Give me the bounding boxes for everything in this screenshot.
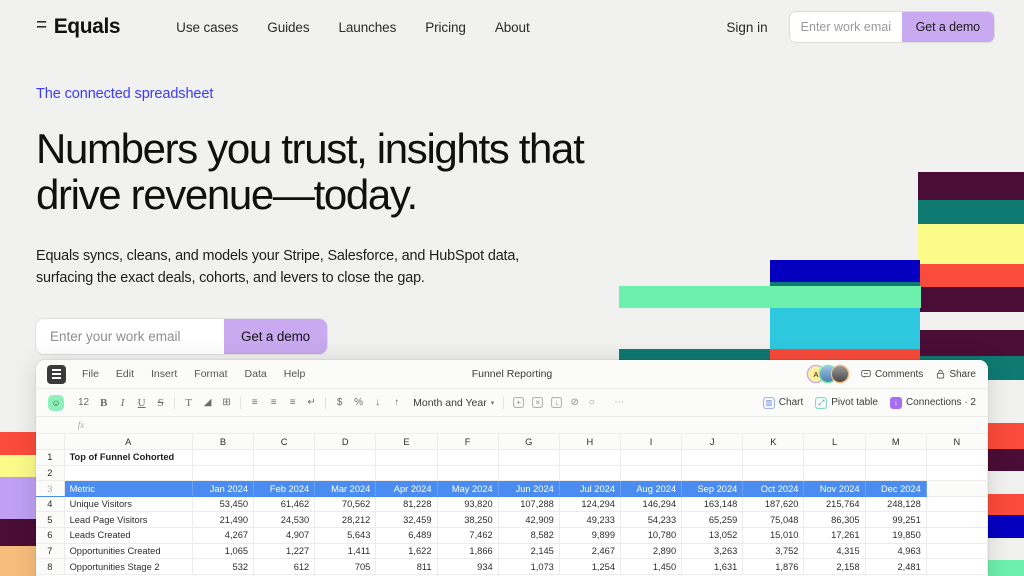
cell[interactable] — [559, 450, 620, 466]
cell[interactable] — [743, 450, 804, 466]
cell-value[interactable]: 1,866 — [437, 543, 498, 559]
nav-get-demo-button[interactable]: Get a demo — [902, 12, 994, 42]
column-header-j[interactable]: J — [682, 434, 743, 450]
cell-value[interactable]: 1,622 — [376, 543, 437, 559]
hero-subheadline: Equals syncs, cleans, and models your St… — [36, 246, 556, 290]
share-label: Share — [949, 369, 976, 380]
insert-sheet-icon[interactable]: ↓ — [551, 397, 562, 408]
avatar[interactable] — [832, 366, 848, 382]
hero-section: The connected spreadsheet Numbers you tr… — [36, 86, 676, 354]
band-left-yellow — [0, 455, 38, 477]
cell-value[interactable]: 2,481 — [865, 559, 926, 575]
italic-button[interactable]: I — [118, 397, 127, 409]
borders-icon[interactable]: ⊞ — [222, 397, 231, 408]
nav-link-guides[interactable]: Guides — [267, 20, 309, 35]
band-right-plum-1 — [918, 172, 1024, 200]
menu-item-file[interactable]: File — [82, 368, 99, 380]
cell-value[interactable]: 10,780 — [620, 528, 681, 544]
cell[interactable] — [804, 465, 865, 481]
header-month[interactable]: Jun 2024 — [498, 481, 559, 497]
more-options-icon[interactable]: ⋯ — [614, 397, 624, 408]
wrap-text-icon[interactable]: ↵ — [307, 397, 316, 408]
cell-value[interactable]: 1,876 — [743, 559, 804, 575]
header-month[interactable]: Jan 2024 — [192, 481, 253, 497]
corner-cell[interactable] — [36, 434, 64, 450]
nav-email-input[interactable] — [790, 12, 902, 42]
column-header-n[interactable]: N — [926, 434, 987, 450]
cell-metric-name[interactable]: Opportunities Created — [64, 543, 192, 559]
brand-name: Equals — [54, 15, 120, 39]
header-metric[interactable]: Metric — [64, 481, 192, 497]
band-far-red-1 — [988, 423, 1024, 449]
sheet-body: 1 Top of Funnel Cohorted 2 — [36, 450, 988, 575]
cell-value[interactable]: 21,490 — [192, 512, 253, 528]
cell-value[interactable]: 6,489 — [376, 528, 437, 544]
band-far-navy — [988, 515, 1024, 538]
app-menubar: File Edit Insert Format Data Help Funnel… — [36, 360, 988, 389]
table-header-row[interactable]: 3 Metric Jan 2024 Feb 2024 Mar 2024 Apr … — [36, 481, 988, 497]
cell-value[interactable]: 4,907 — [254, 528, 315, 544]
cell-value[interactable]: 705 — [315, 559, 376, 575]
cell-value[interactable]: 3,263 — [682, 543, 743, 559]
cell-value[interactable]: 32,459 — [376, 512, 437, 528]
spreadsheet-app-window: File Edit Insert Format Data Help Funnel… — [36, 360, 988, 576]
header-month[interactable]: Oct 2024 — [743, 481, 804, 497]
table-row[interactable]: 7Opportunities Created1,0651,2271,4111,6… — [36, 543, 988, 559]
comment-icon — [861, 369, 871, 379]
cell[interactable] — [804, 450, 865, 466]
cell[interactable] — [315, 465, 376, 481]
band-mid-cyan — [770, 307, 920, 357]
cell-value[interactable]: 42,909 — [498, 512, 559, 528]
cell-value[interactable]: 24,530 — [254, 512, 315, 528]
header-month[interactable]: Feb 2024 — [254, 481, 315, 497]
cell-value[interactable]: 1,254 — [559, 559, 620, 575]
menu-hamburger-icon[interactable] — [47, 365, 66, 384]
table-row[interactable]: 4Unique Visitors53,45061,46270,56281,228… — [36, 496, 988, 512]
column-header-d[interactable]: D — [315, 434, 376, 450]
row-number[interactable]: 6 — [36, 528, 64, 544]
cell[interactable] — [926, 450, 987, 466]
menubar-right: A Comments Sh — [808, 366, 976, 382]
menu-item-format[interactable]: Format — [194, 368, 227, 380]
cell[interactable] — [865, 450, 926, 466]
cell[interactable] — [682, 465, 743, 481]
cell[interactable] — [620, 450, 681, 466]
app-toolbar: ☺ 12 B I U S T ◢ ⊞ ≡ ≡ ≡ ↵ — [36, 389, 988, 417]
column-header-row: A B C D E F G H I J K L M N — [36, 434, 988, 450]
nav-links: Use cases Guides Launches Pricing About — [176, 20, 529, 35]
toolbar-divider — [325, 397, 326, 409]
table-row[interactable]: 5Lead Page Visitors21,49024,53028,21232,… — [36, 512, 988, 528]
cell-value[interactable]: 13,052 — [682, 528, 743, 544]
cell-value[interactable]: 86,305 — [804, 512, 865, 528]
cell[interactable] — [743, 465, 804, 481]
cell-value[interactable]: 4,267 — [192, 528, 253, 544]
cell[interactable] — [926, 559, 987, 575]
cell-value[interactable]: 9,899 — [559, 528, 620, 544]
band-far-mint — [988, 560, 1024, 576]
hero-eyebrow: The connected spreadsheet — [36, 86, 676, 102]
toolbar-divider — [174, 397, 175, 409]
pivot-table-button[interactable]: ⤢ Pivot table — [815, 397, 878, 409]
cell-value[interactable]: 163,148 — [682, 496, 743, 512]
band-far-red-2 — [988, 494, 1024, 515]
pivot-table-label: Pivot table — [831, 397, 878, 408]
cell-value[interactable]: 28,212 — [315, 512, 376, 528]
chart-icon: ▥ — [763, 397, 775, 409]
nav-link-pricing[interactable]: Pricing — [425, 20, 466, 35]
clear-format-icon[interactable]: ⊘ — [570, 397, 579, 408]
cell[interactable] — [315, 450, 376, 466]
collaborator-avatars: A — [808, 366, 848, 382]
cell-value[interactable]: 61,462 — [254, 496, 315, 512]
column-header-a[interactable]: A — [64, 434, 192, 450]
cell-value[interactable]: 1,227 — [254, 543, 315, 559]
table-row[interactable]: 2 — [36, 465, 988, 481]
decrease-decimal-icon[interactable]: ↓ — [373, 397, 382, 408]
band-mid-teal — [770, 282, 920, 307]
pivot-table-icon: ⤢ — [815, 397, 827, 409]
nav-link-launches[interactable]: Launches — [338, 20, 396, 35]
strikethrough-button[interactable]: S — [156, 397, 165, 409]
cell-value[interactable]: 612 — [254, 559, 315, 575]
cell-value[interactable]: 4,963 — [865, 543, 926, 559]
band-right-red-1 — [918, 264, 1024, 287]
share-button[interactable]: Share — [936, 369, 976, 380]
cell-value[interactable]: 187,620 — [743, 496, 804, 512]
column-header-g[interactable]: G — [498, 434, 559, 450]
nav-right-actions: Sign in Get a demo — [726, 12, 994, 42]
menu-item-help[interactable]: Help — [284, 368, 306, 380]
currency-format-icon[interactable]: $ — [335, 397, 344, 408]
toolbar-font-group: 12 B I U S — [78, 397, 165, 409]
cell[interactable] — [926, 465, 987, 481]
cell-value[interactable]: 53,450 — [192, 496, 253, 512]
column-header-b[interactable]: B — [192, 434, 253, 450]
header-month[interactable]: Apr 2024 — [376, 481, 437, 497]
column-header-i[interactable]: I — [620, 434, 681, 450]
top-navigation-bar: = Equals Use cases Guides Launches Prici… — [0, 0, 1024, 54]
column-header-c[interactable]: C — [254, 434, 315, 450]
column-header-k[interactable]: K — [743, 434, 804, 450]
cell[interactable] — [254, 465, 315, 481]
cell-value[interactable]: 8,582 — [498, 528, 559, 544]
band-right-plum-3 — [918, 330, 1024, 356]
row-number[interactable]: 8 — [36, 559, 64, 575]
column-header-l[interactable]: L — [804, 434, 865, 450]
row-number[interactable]: 5 — [36, 512, 64, 528]
connections-button[interactable]: ↓ Connections · 2 — [890, 397, 976, 409]
toolbar-divider — [240, 397, 241, 409]
menu-items: File Edit Insert Format Data Help — [82, 368, 305, 380]
cell-metric-name[interactable]: Unique Visitors — [64, 496, 192, 512]
cell-value[interactable]: 532 — [192, 559, 253, 575]
toolbar-right-actions: ▥ Chart ⤢ Pivot table ↓ Connections · 2 — [763, 397, 976, 409]
formula-bar: fx — [36, 417, 988, 434]
chart-label: Chart — [779, 397, 803, 408]
search-icon[interactable]: ○ — [587, 397, 596, 408]
cell-value[interactable]: 81,228 — [376, 496, 437, 512]
cell-value[interactable]: 70,562 — [315, 496, 376, 512]
header-month[interactable]: Aug 2024 — [620, 481, 681, 497]
cell-value[interactable]: 15,010 — [743, 528, 804, 544]
cell-value[interactable]: 3,752 — [743, 543, 804, 559]
band-right-teal-1 — [918, 200, 1024, 224]
menu-item-edit[interactable]: Edit — [116, 368, 134, 380]
band-right-plum-2 — [918, 287, 1024, 312]
cell-value[interactable]: 4,315 — [804, 543, 865, 559]
cell-value[interactable]: 2,158 — [804, 559, 865, 575]
cell[interactable] — [192, 450, 253, 466]
page-title: Numbers you trust, insights that drive r… — [36, 126, 676, 217]
cell-value[interactable]: 248,128 — [865, 496, 926, 512]
landing-page: = Equals Use cases Guides Launches Prici… — [0, 0, 1024, 576]
band-left-red — [0, 432, 38, 455]
cell-value[interactable]: 19,850 — [865, 528, 926, 544]
cell-value[interactable]: 17,261 — [804, 528, 865, 544]
header-month[interactable]: Dec 2024 — [865, 481, 926, 497]
cell-value[interactable]: 2,145 — [498, 543, 559, 559]
row-number[interactable]: 7 — [36, 543, 64, 559]
table-row[interactable]: 6Leads Created4,2674,9075,6436,4897,4628… — [36, 528, 988, 544]
header-month[interactable]: May 2024 — [437, 481, 498, 497]
band-far-plum-1 — [988, 449, 1024, 471]
band-left-peach — [0, 546, 38, 576]
bold-button[interactable]: B — [99, 397, 108, 409]
equals-mark-icon: = — [36, 15, 47, 37]
menu-item-data[interactable]: Data — [245, 368, 267, 380]
column-header-f[interactable]: F — [437, 434, 498, 450]
delete-cell-icon[interactable]: × — [532, 397, 543, 408]
column-header-h[interactable]: H — [559, 434, 620, 450]
cell-value[interactable]: 1,450 — [620, 559, 681, 575]
cell-value[interactable]: 54,233 — [620, 512, 681, 528]
hero-get-demo-button[interactable]: Get a demo — [224, 319, 327, 354]
toolbar-cell-group: + × ↓ ⊘ ○ ⋯ — [513, 397, 624, 408]
cell-value[interactable]: 1,411 — [315, 543, 376, 559]
band-left-plum — [0, 519, 38, 546]
row-number[interactable]: 1 — [36, 450, 64, 466]
column-header-m[interactable]: M — [865, 434, 926, 450]
cell[interactable] — [926, 512, 987, 528]
cell-value[interactable]: 146,294 — [620, 496, 681, 512]
fx-icon: fx — [64, 420, 98, 430]
cell[interactable] — [254, 450, 315, 466]
cell[interactable] — [620, 465, 681, 481]
menu-item-insert[interactable]: Insert — [151, 368, 177, 380]
cell-metric-name[interactable]: Lead Page Visitors — [64, 512, 192, 528]
toolbar-align-group: ≡ ≡ ≡ ↵ — [250, 397, 316, 408]
cell-value[interactable]: 7,462 — [437, 528, 498, 544]
cell[interactable] — [865, 465, 926, 481]
lock-icon — [936, 369, 945, 379]
chart-button[interactable]: ▥ Chart — [763, 397, 803, 409]
cell[interactable] — [926, 528, 987, 544]
cell[interactable] — [376, 465, 437, 481]
toolbar-style-group: T ◢ ⊞ — [184, 397, 231, 409]
hero-email-capture: Get a demo — [36, 319, 327, 354]
sign-in-link[interactable]: Sign in — [726, 20, 767, 35]
cell[interactable] — [376, 450, 437, 466]
cell-metric-name[interactable]: Opportunities Stage 2 — [64, 559, 192, 575]
table-row[interactable]: 1 Top of Funnel Cohorted — [36, 450, 988, 466]
cell-value[interactable]: 75,048 — [743, 512, 804, 528]
sheet-grid[interactable]: A B C D E F G H I J K L M N — [36, 434, 988, 575]
table-row[interactable]: 8Opportunities Stage 25326127058119341,0… — [36, 559, 988, 575]
brand-logo[interactable]: = Equals — [36, 15, 120, 39]
cell-value[interactable]: 2,890 — [620, 543, 681, 559]
underline-button[interactable]: U — [137, 397, 146, 409]
cell-value[interactable]: 1,631 — [682, 559, 743, 575]
chevron-down-icon: ▾ — [491, 399, 495, 407]
band-right-yellow — [918, 224, 1024, 264]
cell-value[interactable]: 934 — [437, 559, 498, 575]
cell[interactable] — [64, 465, 192, 481]
header-month[interactable]: Mar 2024 — [315, 481, 376, 497]
header-month[interactable]: Nov 2024 — [804, 481, 865, 497]
comments-label: Comments — [875, 369, 923, 380]
cell-value[interactable]: 124,294 — [559, 496, 620, 512]
cell-value[interactable]: 38,250 — [437, 512, 498, 528]
fill-color-icon[interactable]: ◢ — [203, 397, 212, 408]
cell-value[interactable]: 215,764 — [804, 496, 865, 512]
connections-label: Connections · 2 — [906, 397, 976, 408]
cell-value[interactable]: 1,065 — [192, 543, 253, 559]
nav-email-capture: Get a demo — [790, 12, 994, 42]
cell[interactable] — [926, 543, 987, 559]
cell-value[interactable]: 811 — [376, 559, 437, 575]
connections-icon: ↓ — [890, 397, 902, 409]
increase-decimal-icon[interactable]: ↑ — [392, 397, 401, 408]
column-header-e[interactable]: E — [376, 434, 437, 450]
font-size-input[interactable]: 12 — [78, 397, 89, 408]
band-left-lilac — [0, 477, 38, 519]
nav-link-use-cases[interactable]: Use cases — [176, 20, 238, 35]
nav-link-about[interactable]: About — [495, 20, 530, 35]
cell[interactable] — [192, 465, 253, 481]
cell[interactable] — [682, 450, 743, 466]
cell[interactable] — [559, 465, 620, 481]
align-center-icon[interactable]: ≡ — [269, 397, 278, 408]
percent-format-icon[interactable]: % — [354, 397, 363, 408]
cell-value[interactable]: 107,288 — [498, 496, 559, 512]
number-format-select[interactable]: Month and Year ▾ — [413, 397, 494, 409]
insert-row-icon[interactable]: + — [513, 397, 524, 408]
cell-a1[interactable]: Top of Funnel Cohorted — [64, 450, 192, 466]
toolbar-divider — [503, 397, 504, 409]
emoji-icon[interactable]: ☺ — [48, 395, 64, 411]
cell[interactable] — [926, 481, 987, 497]
cell-value[interactable]: 1,073 — [498, 559, 559, 575]
hero-email-input[interactable] — [36, 319, 224, 354]
spreadsheet-area: fx A B C D E — [36, 417, 988, 576]
row-number[interactable]: 2 — [36, 465, 64, 481]
align-left-icon[interactable]: ≡ — [250, 397, 259, 408]
number-format-value: Month and Year — [413, 397, 487, 409]
align-right-icon[interactable]: ≡ — [288, 397, 297, 408]
cell-value[interactable]: 2,467 — [559, 543, 620, 559]
header-month[interactable]: Jul 2024 — [559, 481, 620, 497]
cell[interactable] — [498, 465, 559, 481]
cell-value[interactable]: 49,233 — [559, 512, 620, 528]
toolbar-number-group: $ % ↓ ↑ — [335, 397, 401, 408]
cell[interactable] — [437, 450, 498, 466]
cell-value[interactable]: 99,251 — [865, 512, 926, 528]
cell-value[interactable]: 5,643 — [315, 528, 376, 544]
header-month[interactable]: Sep 2024 — [682, 481, 743, 497]
cell-value[interactable]: 65,259 — [682, 512, 743, 528]
band-mid-navy — [770, 260, 920, 282]
cell-metric-name[interactable]: Leads Created — [64, 528, 192, 544]
row-number[interactable]: 4 — [36, 496, 64, 512]
cell-value[interactable]: 93,820 — [437, 496, 498, 512]
cell[interactable] — [926, 496, 987, 512]
cell[interactable] — [498, 450, 559, 466]
text-color-icon[interactable]: T — [184, 397, 193, 409]
row-number[interactable]: 3 — [36, 481, 64, 497]
comments-button[interactable]: Comments — [861, 369, 923, 380]
cell[interactable] — [437, 465, 498, 481]
